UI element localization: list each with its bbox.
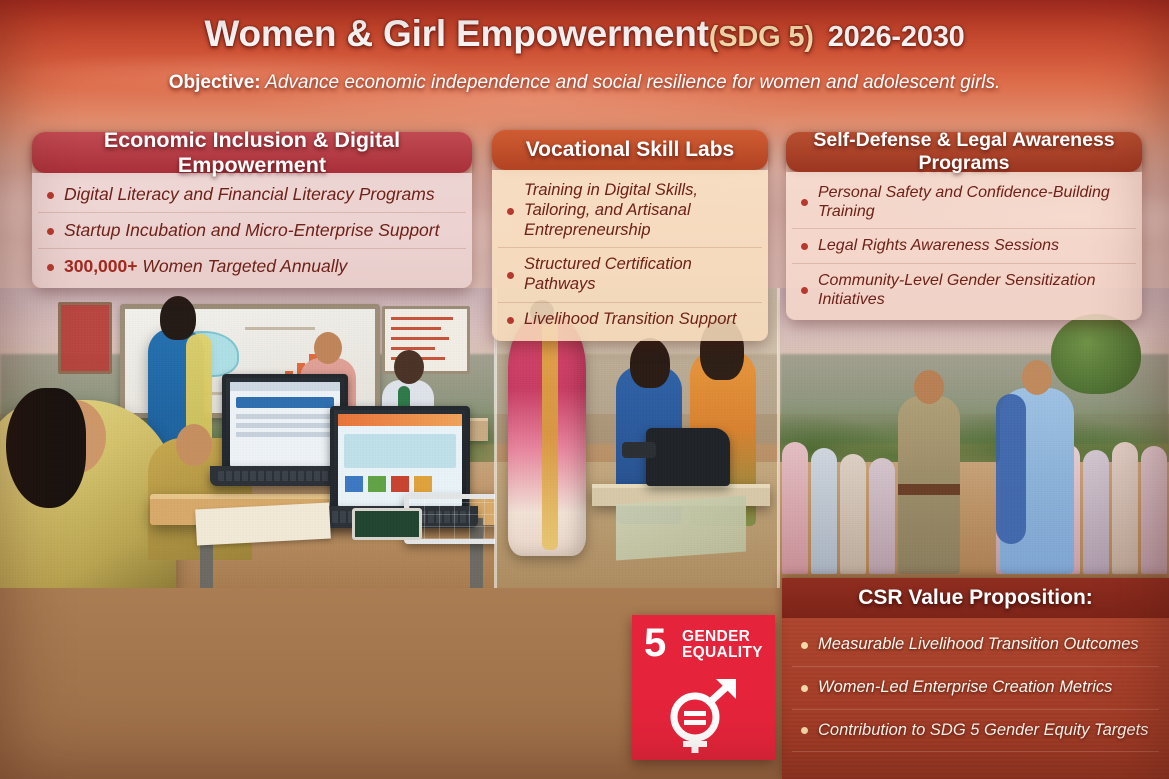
list-item: Personal Safety and Confidence-Building …: [792, 176, 1136, 229]
bullet-list-csr: Measurable Livelihood Transition Outcome…: [782, 618, 1169, 752]
list-item: Structured Certification Pathways: [498, 248, 762, 303]
list-item: Contribution to SDG 5 Gender Equity Targ…: [792, 710, 1159, 753]
list-item: 300,000+ Women Targeted Annually: [38, 249, 466, 284]
bullet-text: Legal Rights Awareness Sessions: [818, 237, 1059, 254]
list-item: Community-Level Gender Sensitization Ini…: [792, 264, 1136, 316]
card-body-economic: Digital Literacy and Financial Literacy …: [32, 173, 472, 288]
sdg-label-line2: EQUALITY: [682, 645, 763, 661]
card-header-vocational: Vocational Skill Labs: [492, 130, 768, 170]
csr-header: CSR Value Proposition:: [782, 578, 1169, 618]
bullet-dot-icon: [801, 727, 808, 734]
card-vocational-skill-labs: Vocational Skill Labs Training in Digita…: [492, 130, 768, 341]
bullet-list-vocational: Training in Digital Skills, Tailoring, a…: [498, 174, 762, 337]
photo-grain: [780, 288, 1169, 588]
bullet-dot-icon: [47, 264, 54, 271]
csr-value-proposition-panel: CSR Value Proposition: Measurable Liveli…: [782, 578, 1169, 779]
list-item: Training in Digital Skills, Tailoring, a…: [498, 174, 762, 248]
card-body-selfdefense: Personal Safety and Confidence-Building …: [786, 172, 1142, 320]
card-header-selfdefense: Self-Defense & Legal Awareness Programs: [786, 132, 1142, 172]
title-year-range: 2026-2030: [828, 21, 965, 53]
infographic-poster: Women & Girl Empowerment(SDG 5)2026-2030…: [0, 0, 1169, 779]
bullet-dot-icon: [47, 228, 54, 235]
objective-text: Advance economic independence and social…: [261, 72, 1001, 93]
list-item: Digital Literacy and Financial Literacy …: [38, 177, 466, 213]
bullet-dot-icon: [801, 199, 808, 206]
bullet-text: Digital Literacy and Financial Literacy …: [64, 184, 435, 204]
bullet-text: Women-Led Enterprise Creation Metrics: [818, 678, 1112, 696]
objective-label: Objective:: [169, 72, 261, 93]
list-item: Legal Rights Awareness Sessions: [792, 229, 1136, 263]
bullet-text: Structured Certification Pathways: [524, 255, 692, 293]
bullet-highlight-metric: 300,000+: [64, 256, 137, 276]
bullet-dot-icon: [801, 642, 808, 649]
panel-divider: [777, 288, 780, 588]
bullet-dot-icon: [507, 317, 514, 324]
scene-digital-literacy-classroom: [0, 288, 495, 588]
bullet-text: Training in Digital Skills, Tailoring, a…: [524, 181, 698, 239]
sdg-number: 5: [644, 623, 666, 663]
bullet-text: Measurable Livelihood Transition Outcome…: [818, 635, 1139, 653]
objective-statement: Objective: Advance economic independence…: [0, 72, 1169, 94]
bullet-dot-icon: [507, 272, 514, 279]
bullet-dot-icon: [47, 192, 54, 199]
bullet-dot-icon: [801, 287, 808, 294]
bullet-text: Contribution to SDG 5 Gender Equity Targ…: [818, 721, 1148, 739]
photo-grain: [0, 288, 495, 588]
bullet-dot-icon: [507, 208, 514, 215]
card-body-vocational: Training in Digital Skills, Tailoring, a…: [492, 170, 768, 341]
bullet-text: Community-Level Gender Sensitization Ini…: [818, 272, 1095, 308]
card-economic-inclusion: Economic Inclusion & Digital Empowerment…: [32, 132, 472, 288]
bullet-list-economic: Digital Literacy and Financial Literacy …: [38, 177, 466, 284]
gender-equality-icon: [662, 677, 746, 755]
scene-self-defense-training: [780, 288, 1169, 588]
list-item: Startup Incubation and Micro-Enterprise …: [38, 213, 466, 249]
card-self-defense-legal: Self-Defense & Legal Awareness Programs …: [786, 132, 1142, 320]
sdg-5-badge: 5 GENDER EQUALITY: [632, 615, 775, 760]
page-title: Women & Girl Empowerment(SDG 5)2026-2030: [0, 0, 1169, 55]
list-item: Measurable Livelihood Transition Outcome…: [792, 624, 1159, 667]
bullet-text: Women Targeted Annually: [137, 256, 347, 276]
sdg-label-line1: GENDER: [682, 629, 763, 645]
bullet-text: Startup Incubation and Micro-Enterprise …: [64, 220, 439, 240]
sdg-label: GENDER EQUALITY: [682, 629, 763, 662]
bullet-dot-icon: [801, 685, 808, 692]
card-header-economic: Economic Inclusion & Digital Empowerment: [32, 132, 472, 173]
bullet-text: Livelihood Transition Support: [524, 310, 737, 328]
bullet-text: Personal Safety and Confidence-Building …: [818, 184, 1110, 220]
list-item: Women-Led Enterprise Creation Metrics: [792, 667, 1159, 710]
title-sdg-tag: (SDG 5): [709, 21, 814, 53]
title-main-text: Women & Girl Empowerment: [204, 13, 708, 54]
bullet-dot-icon: [801, 243, 808, 250]
title-block: Women & Girl Empowerment(SDG 5)2026-2030…: [0, 0, 1169, 94]
list-item: Livelihood Transition Support: [498, 303, 762, 337]
bullet-list-selfdefense: Personal Safety and Confidence-Building …: [792, 176, 1136, 316]
